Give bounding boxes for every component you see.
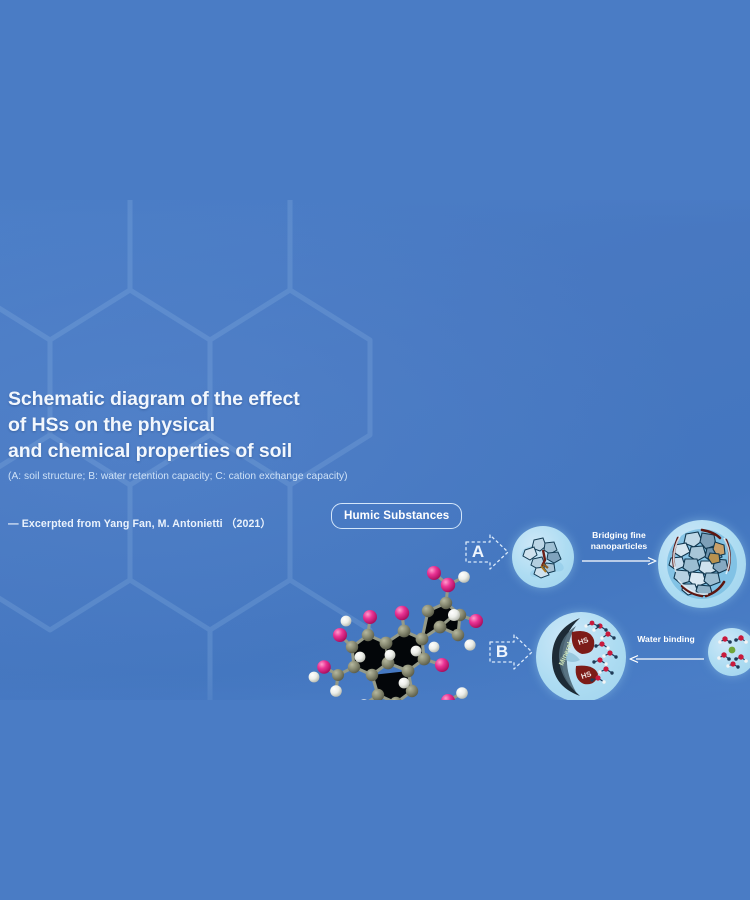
row-a-flow-caption: Bridging fine nanoparticles [576, 530, 662, 551]
row-b-flow-caption-line-1: Water binding [630, 634, 702, 645]
figure-banner: Schematic diagram of the effect of HSs o… [0, 200, 750, 700]
text-block: Schematic diagram of the effect of HSs o… [8, 386, 348, 531]
row-b: B Mineral HS HS [462, 612, 750, 700]
attribution-source: — Excerpted from Yang Fan, M. Antonietti… [8, 516, 348, 531]
row-b-right-illustration [708, 628, 750, 676]
title-line-2: of HSs on the physical [8, 412, 348, 438]
row-b-flow-caption: Water binding [630, 634, 702, 645]
row-a-marker: A [464, 532, 510, 572]
row-a-flow-caption-line-1: Bridging fine [576, 530, 662, 541]
row-a: A [462, 518, 750, 616]
row-a-marker-label: A [464, 532, 492, 572]
row-a-flow-caption-line-2: nanoparticles [576, 541, 662, 552]
row-a-right-illustration [658, 520, 746, 608]
row-a-left-illustration [512, 526, 574, 588]
row-a-flow-arrow-icon [582, 556, 658, 566]
page-title: Schematic diagram of the effect of HSs o… [8, 386, 348, 464]
subtitle-legend: (A: soil structure; B: water retention c… [8, 470, 348, 484]
humic-substances-label: Humic Substances [331, 503, 462, 529]
title-line-3: and chemical properties of soil [8, 438, 348, 464]
row-b-left-illustration: Mineral HS HS [536, 612, 626, 700]
title-line-1: Schematic diagram of the effect [8, 386, 348, 412]
row-b-marker: B [488, 632, 534, 672]
row-b-marker-label: B [488, 632, 516, 672]
row-b-flow-arrow-icon [628, 654, 704, 664]
banner-stage: Schematic diagram of the effect of HSs o… [0, 0, 750, 900]
